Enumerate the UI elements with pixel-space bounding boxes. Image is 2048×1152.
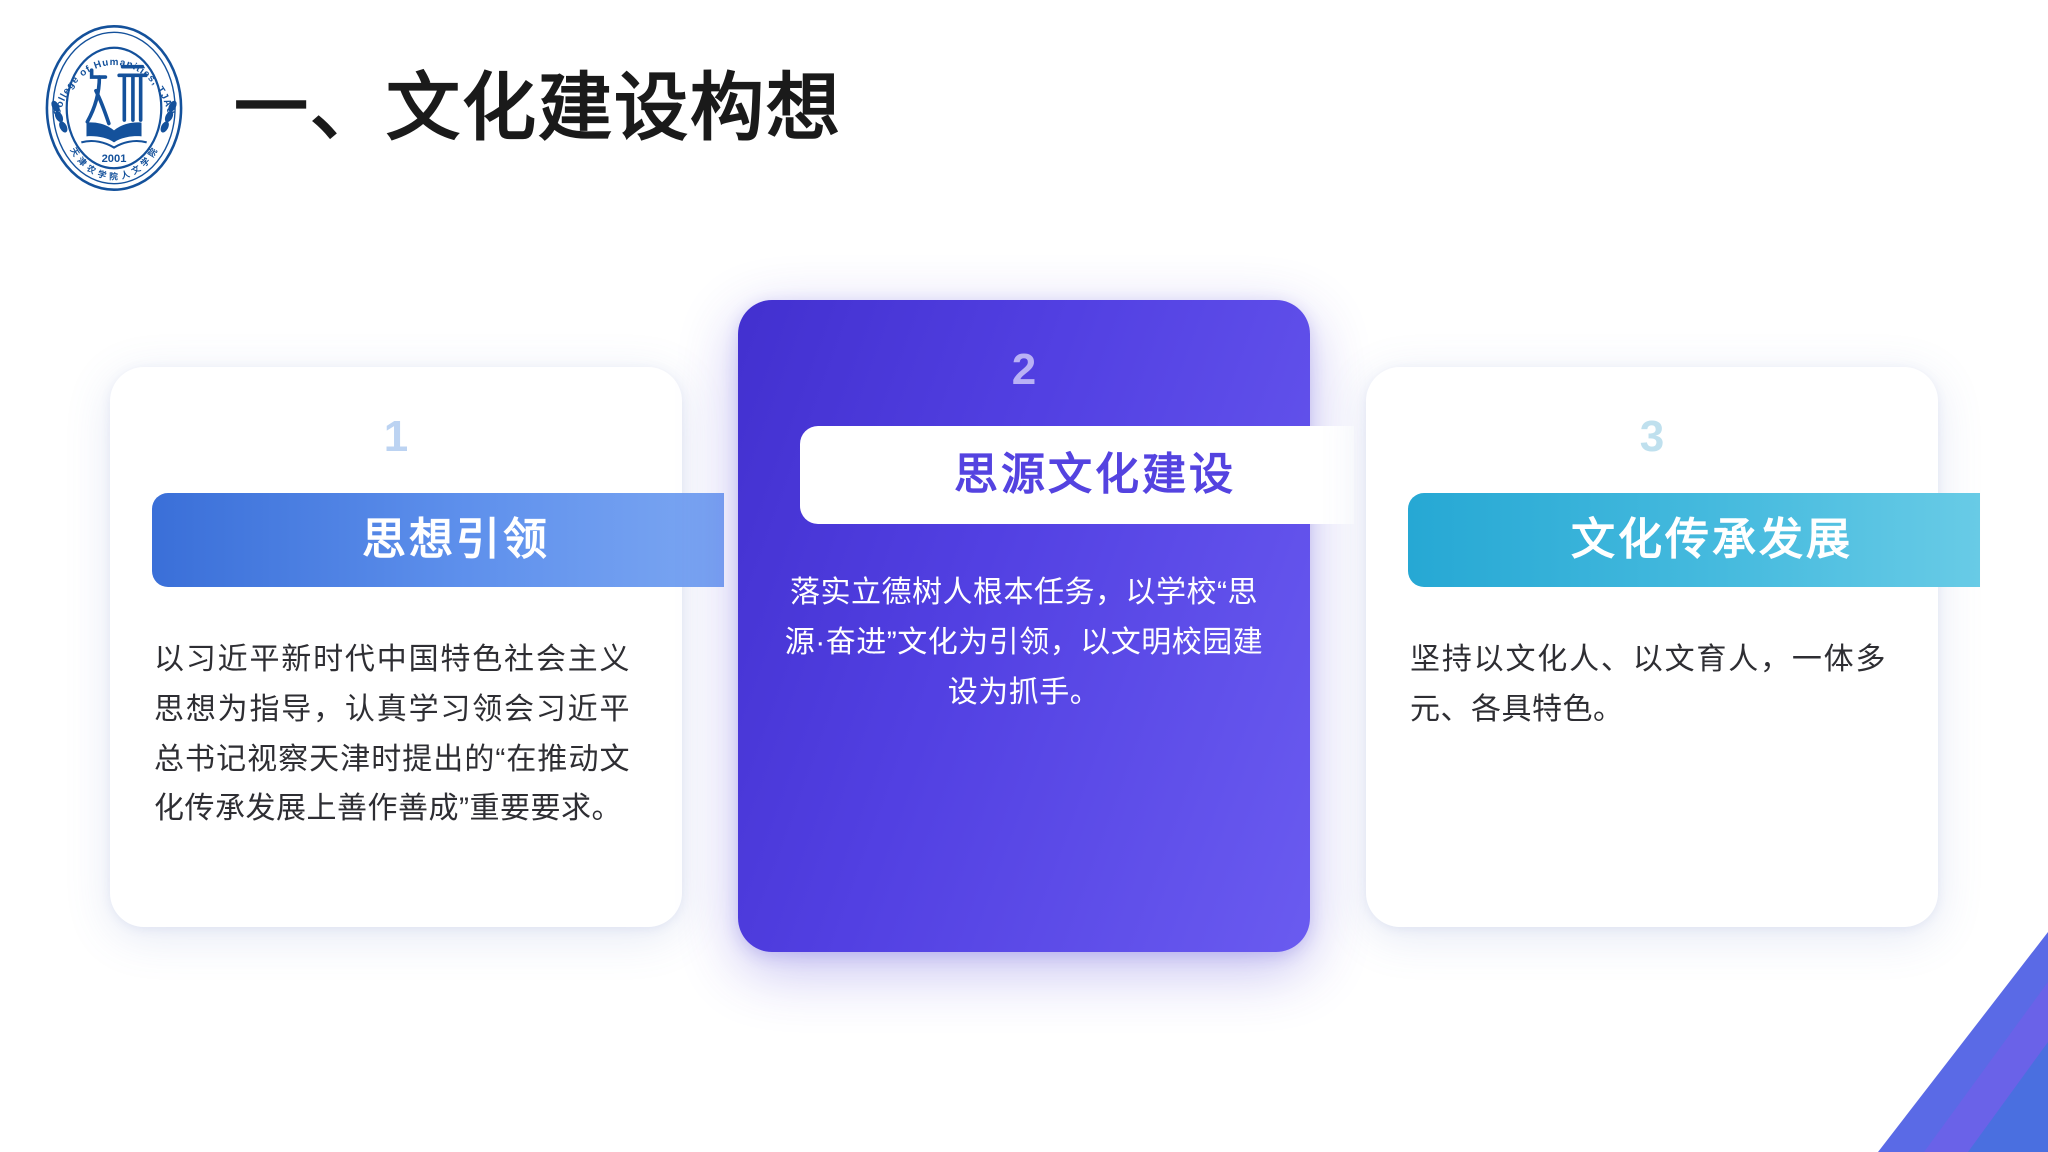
cards-row: 1 思想引领 以习近平新时代中国特色社会主义思想为指导，认真学习领会习近平总书记… <box>0 300 2048 952</box>
card-2-number: 2 <box>738 348 1310 392</box>
card-1[interactable]: 1 思想引领 以习近平新时代中国特色社会主义思想为指导，认真学习领会习近平总书记… <box>110 367 682 927</box>
card-3[interactable]: 3 文化传承发展 坚持以文化人、以文育人，一体多元、各具特色。 <box>1366 367 1938 927</box>
corner-triangle-decoration <box>1728 922 2048 1152</box>
logo-year-text: 2001 <box>102 153 127 165</box>
tjau-college-seal-logo: College of Humanities, TJAU 天 津 农 学 院 人 … <box>28 22 200 194</box>
card-2-title-band: 思源文化建设 <box>738 426 1310 520</box>
card-2-body: 落实立德树人根本任务，以学校“思源·奋进”文化为引领，以文明校园建设为抓手。 <box>738 568 1310 717</box>
card-3-band-fill: 文化传承发展 <box>1408 493 1980 587</box>
card-3-number: 3 <box>1366 415 1938 459</box>
card-1-number: 1 <box>110 415 682 459</box>
card-3-title-band: 文化传承发展 <box>1366 493 1938 587</box>
card-1-title-band: 思想引领 <box>110 493 682 587</box>
slide-canvas: College of Humanities, TJAU 天 津 农 学 院 人 … <box>0 0 2048 1152</box>
card-1-body: 以习近平新时代中国特色社会主义思想为指导，认真学习领会习近平总书记视察天津时提出… <box>110 635 682 834</box>
card-2-band-fill: 思源文化建设 <box>800 426 1354 524</box>
card-3-body: 坚持以文化人、以文育人，一体多元、各具特色。 <box>1366 635 1938 735</box>
page-title: 一、文化建设构想 <box>234 71 842 145</box>
card-1-title: 思想引领 <box>326 518 550 562</box>
card-1-band-fill: 思想引领 <box>152 493 724 587</box>
card-2[interactable]: 2 思源文化建设 落实立德树人根本任务，以学校“思源·奋进”文化为引领，以文明校… <box>738 300 1310 952</box>
slide-header: College of Humanities, TJAU 天 津 农 学 院 人 … <box>28 22 842 194</box>
card-3-title: 文化传承发展 <box>1535 518 1853 562</box>
card-2-title: 思源文化建设 <box>918 453 1236 497</box>
